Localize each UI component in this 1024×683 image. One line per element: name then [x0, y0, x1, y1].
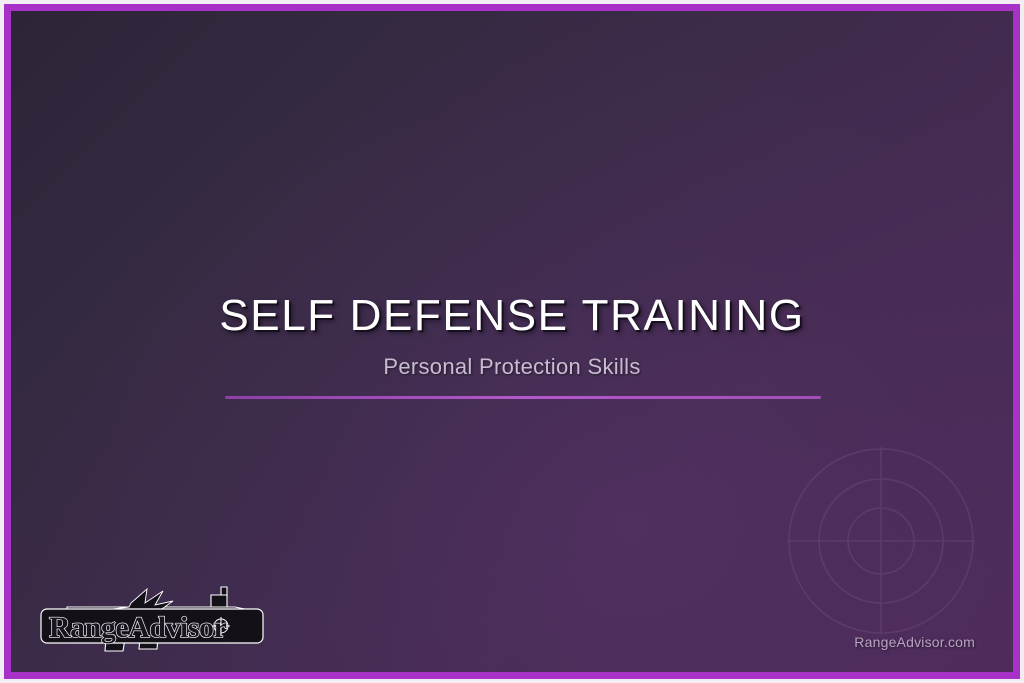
- logo-wordmark: RangeAdvisor: [49, 611, 227, 644]
- page-title: SELF DEFENSE TRAINING: [11, 293, 1013, 340]
- title-block: SELF DEFENSE TRAINING Personal Protectio…: [11, 293, 1013, 380]
- page-subtitle: Personal Protection Skills: [11, 354, 1013, 380]
- slide-frame: SELF DEFENSE TRAINING Personal Protectio…: [0, 0, 1024, 683]
- site-watermark: RangeAdvisor.com: [854, 634, 975, 650]
- slide-border: SELF DEFENSE TRAINING Personal Protectio…: [4, 4, 1020, 679]
- accent-divider: [225, 396, 821, 399]
- brand-logo: RangeAdvisor: [35, 569, 271, 665]
- slide-canvas: SELF DEFENSE TRAINING Personal Protectio…: [11, 11, 1013, 672]
- crosshair-target-icon: [773, 433, 989, 649]
